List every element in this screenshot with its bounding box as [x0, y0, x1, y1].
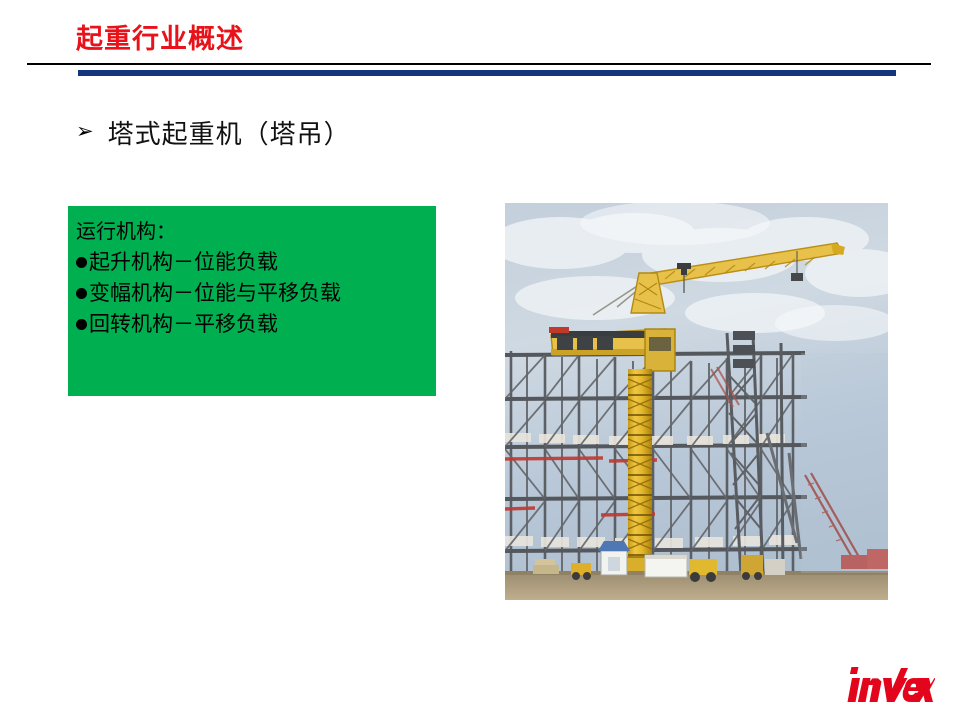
- callout-line: 回转机构－平移负载: [76, 309, 436, 340]
- section-heading-label: 塔式起重机（塔吊）: [108, 114, 351, 151]
- title-divider-thick: [78, 70, 896, 76]
- slide-canvas: 起重行业概述 ➢ 塔式起重机（塔吊） 运行机构： 起升机构－位能负载 变幅机构－…: [0, 0, 960, 720]
- bullet-dot-icon: [76, 319, 87, 330]
- tower-crane-photo: [505, 203, 888, 600]
- title-divider-thin: [27, 63, 931, 65]
- bullet-dot-icon: [76, 257, 87, 268]
- invex-logo: [843, 662, 935, 704]
- callout-line-text: 起升机构－位能负载: [89, 250, 278, 274]
- section-heading: ➢ 塔式起重机（塔吊）: [76, 114, 351, 151]
- callout-line-text: 回转机构－平移负载: [89, 312, 278, 336]
- callout-line-text: 变幅机构－位能与平移负载: [89, 281, 341, 305]
- arrow-bullet-icon: ➢: [76, 121, 94, 142]
- callout-box: 运行机构： 起升机构－位能负载 变幅机构－位能与平移负载 回转机构－平移负载: [68, 206, 436, 396]
- callout-line-text: 运行机构：: [76, 219, 176, 243]
- callout-line: 变幅机构－位能与平移负载: [76, 278, 436, 309]
- callout-line: 运行机构：: [76, 216, 436, 247]
- bullet-dot-icon: [76, 288, 87, 299]
- page-title: 起重行业概述: [76, 24, 244, 55]
- callout-line: 起升机构－位能负载: [76, 247, 436, 278]
